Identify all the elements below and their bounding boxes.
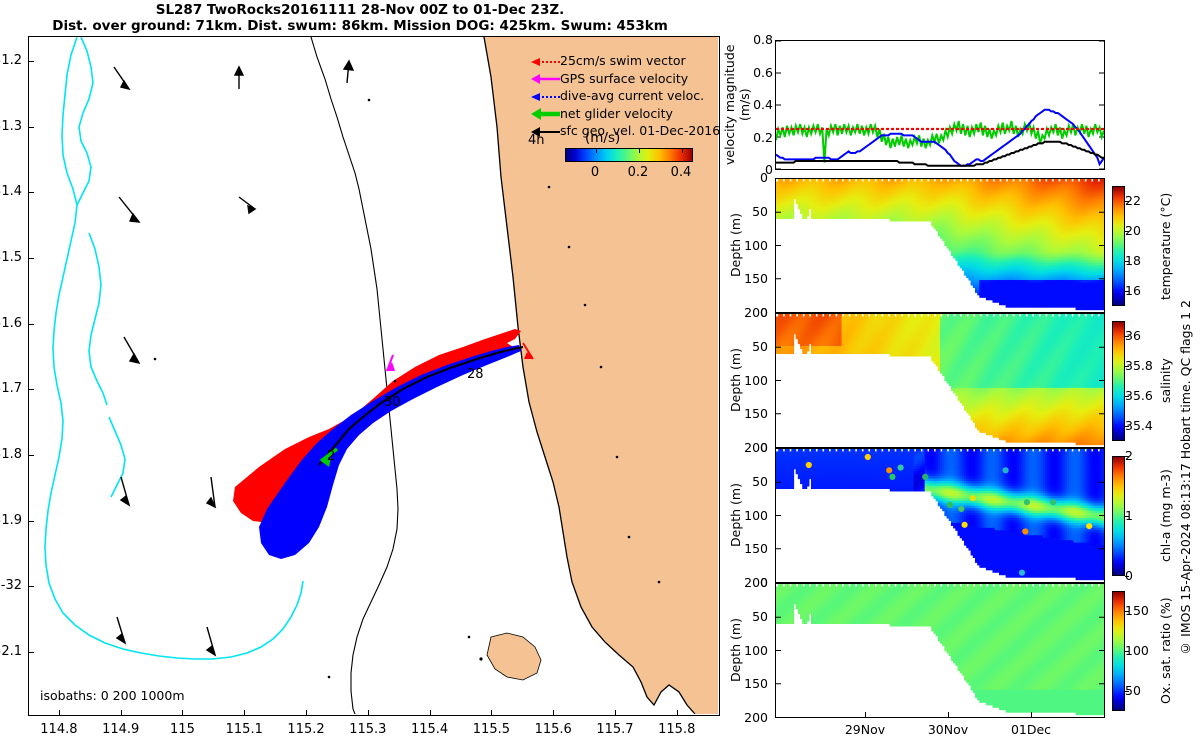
credit-text: © IMOS 15-Apr-2024 08:13:17 Hobart time.… [1178,300,1193,656]
map-lon-tick-9: 115.7 [585,722,645,737]
salinity-colorbar-tick-1: 35.6 [1125,388,1153,403]
colorbar-interval-label: 4h [528,133,545,148]
legend-label-net-glider-velocity: net glider velocity [560,106,673,121]
velocity-y-tick-0: 0 [733,162,773,177]
figure-title: SL287 TwoRocks20161111 28-Nov 00Z to 01-… [0,2,720,34]
salinity-colorbar-tickmark-3 [1125,336,1129,337]
salinity-depth-tick-1: 50 [728,339,768,354]
map-lat-tick-7: 31.9 [0,513,22,528]
map-lon-tick-3: 115.1 [214,722,274,737]
section-x-tick-1: 30Nov [918,722,978,737]
map-lat-tick-8: -32 [0,578,22,593]
legend-item-net-glider-velocity[interactable]: net glider velocity [530,105,712,123]
map-lon-tickmark-7 [491,710,492,716]
legend-item-sfc-geo-velocity[interactable]: sfc geo. vel. 01-Dec-2016 [530,122,712,140]
temperature-depth-tick-3: 150 [728,271,768,286]
oxygen-colorbar[interactable] [1112,591,1125,711]
velocity-y-tick-1: 0.2 [733,130,773,145]
temperature-colorbar-tickmark-1 [1125,261,1129,262]
oxygen-depth-tick-4: 200 [728,710,768,725]
legend-label-dive-avg-current: dive-avg current veloc. [560,88,704,103]
salinity-section-panel[interactable] [775,313,1105,448]
map-lon-tick-2: 115 [152,722,212,737]
salinity-plot [776,314,1104,447]
map-lon-tickmark-4 [306,710,307,716]
temperature-colorbar-tickmark-2 [1125,231,1129,232]
map-lon-tickmark-2 [182,710,183,716]
oxygen-depth-tick-2: 100 [728,643,768,658]
track-date-28: 28 [467,367,484,382]
oxygen-section-panel[interactable] [775,583,1105,718]
map-legend: 25cm/s swim vector GPS surface velocity … [530,52,712,140]
temperature-depth-tick-1: 50 [728,204,768,219]
isobath-0m-upper [77,37,93,205]
map-lon-tickmark-9 [615,710,616,716]
title-line-2: Dist. over ground: 71km. Dist. swum: 86k… [0,18,720,34]
map-colorbar-tick-0: 0 [575,165,615,180]
map-lat-tickmark-4 [28,324,34,325]
velocity-y-tick-3: 0.6 [733,65,773,80]
oxygen-colorbar-label: Ox. sat. ratio (%) [1158,591,1174,711]
map-lat-tickmark-8 [28,586,34,587]
map-lat-tickmark-2 [28,192,34,193]
map-lon-tickmark-6 [430,710,431,716]
map-lat-tick-4: 31.6 [0,316,22,331]
gps-surface-velocity-arrow [386,355,395,371]
map-lat-tickmark-0 [28,61,34,62]
isobath-note: isobaths: 0 200 1000m [40,688,185,703]
legend-item-gps-surface-velocity[interactable]: GPS surface velocity [530,70,712,88]
temperature-colorbar[interactable] [1112,186,1125,306]
oxygen-colorbar-tickmark-1 [1125,651,1129,652]
track-date-2: 2 [327,449,335,464]
velocity-plot [776,41,1104,169]
map-lat-tick-3: 31.5 [0,250,22,265]
map-lat-tick-0: 31.2 [0,53,22,68]
salinity-colorbar-tick-0: 35.4 [1125,418,1153,433]
salinity-colorbar-tickmark-0 [1125,426,1129,427]
map-lat-tickmark-5 [28,389,34,390]
chla-colorbar-label: chl-a (mg m-3) [1158,456,1174,576]
isobath-segment-a [89,233,107,405]
section-x-tickmark-2 [1031,712,1032,718]
temperature-colorbar-tickmark-0 [1125,291,1129,292]
map-lat-tick-2: 31.4 [0,184,22,199]
legend-label-swim-vector: 25cm/s swim vector [560,53,686,68]
map-lat-tickmark-1 [28,127,34,128]
salinity-depth-tick-2: 100 [728,373,768,388]
chla-colorbar[interactable] [1112,456,1125,576]
swim-vector-icon [530,54,560,68]
velocity-timeseries-panel[interactable] [775,40,1105,170]
map-lon-tick-10: 115.8 [647,722,707,737]
salinity-depth-tick-0: 0 [728,305,768,320]
map-colorbar[interactable] [565,148,693,162]
salinity-depth-tick-3: 150 [728,406,768,421]
map-lat-tick-9: 32.1 [0,644,22,659]
temperature-depth-tick-2: 100 [728,238,768,253]
map-lon-tick-8: 115.6 [523,722,583,737]
chla-depth-tick-3: 150 [728,541,768,556]
map-lon-tick-0: 114.8 [29,722,89,737]
section-x-tick-2: 01Dec [1001,722,1061,737]
island-polygon [487,633,541,680]
map-lon-tickmark-10 [677,710,678,716]
chla-colorbar-tickmark-2 [1125,456,1129,457]
temperature-section-panel[interactable] [775,178,1105,313]
map-lat-tick-1: 31.3 [0,119,22,134]
title-line-1: SL287 TwoRocks20161111 28-Nov 00Z to 01-… [0,2,720,18]
track-date-30: 30 [384,395,401,410]
map-lon-tick-7: 115.5 [461,722,521,737]
map-lat-tick-6: 31.8 [0,447,22,462]
salinity-colorbar-tick-2: 35.8 [1125,358,1153,373]
map-lat-tickmark-3 [28,258,34,259]
map-lon-tick-5: 115.3 [338,722,398,737]
legend-label-gps-surface-velocity: GPS surface velocity [560,71,688,86]
map-lat-tickmark-6 [28,455,34,456]
oxygen-depth-tick-1: 50 [728,609,768,624]
isobath-1000m [45,37,303,659]
dive-avg-current-icon [530,89,560,103]
net-glider-velocity-icon [530,106,560,120]
velocity-y-tick-2: 0.4 [733,97,773,112]
velocity-arrow-field [114,61,353,655]
chla-plot [776,449,1104,582]
map-lon-tickmark-5 [368,710,369,716]
section-x-tickmark-1 [948,712,949,718]
salinity-colorbar-tickmark-2 [1125,366,1129,367]
legend-item-dive-avg-current[interactable]: dive-avg current veloc. [530,87,712,105]
map-colorbar-tick-1: 0.2 [618,165,658,180]
chla-depth-tick-1: 50 [728,474,768,489]
map-lon-tickmark-3 [244,710,245,716]
map-lon-tickmark-0 [59,710,60,716]
oxygen-depth-tick-0: 0 [728,575,768,590]
oxygen-colorbar-tickmark-2 [1125,611,1129,612]
oxygen-colorbar-tickmark-0 [1125,691,1129,692]
salinity-colorbar[interactable] [1112,321,1125,441]
temperature-plot [776,179,1104,312]
chla-colorbar-tickmark-1 [1125,516,1129,517]
salinity-colorbar-label: salinity [1158,321,1174,441]
chla-depth-tick-2: 100 [728,508,768,523]
oxygen-plot [776,584,1104,717]
map-lat-tick-5: 31.7 [0,381,22,396]
chla-colorbar-tickmark-0 [1125,576,1129,577]
chla-section-panel[interactable] [775,448,1105,583]
chla-depth-tick-0: 0 [728,440,768,455]
map-lon-tickmark-1 [121,710,122,716]
map-lon-tick-6: 115.4 [400,722,460,737]
legend-item-swim-vector[interactable]: 25cm/s swim vector [530,52,712,70]
map-colorbar-tick-2: 0.4 [661,165,701,180]
map-lon-tickmark-8 [553,710,554,716]
temperature-colorbar-tickmark-3 [1125,201,1129,202]
section-x-tickmark-0 [865,712,866,718]
map-lon-tick-4: 115.2 [276,722,336,737]
map-lon-tick-1: 114.9 [91,722,151,737]
oxygen-depth-tick-3: 150 [728,676,768,691]
gps-surface-velocity-icon [530,71,560,85]
temperature-colorbar-label: temperature (°C) [1158,186,1174,306]
salinity-colorbar-tickmark-1 [1125,396,1129,397]
isobath-200m [311,37,398,714]
map-lat-tickmark-9 [28,652,34,653]
map-lat-tickmark-7 [28,521,34,522]
section-x-tick-0: 29Nov [835,722,895,737]
map-colorbar-units: (m/s) [585,130,620,146]
velocity-y-tick-4: 0.8 [733,32,773,47]
